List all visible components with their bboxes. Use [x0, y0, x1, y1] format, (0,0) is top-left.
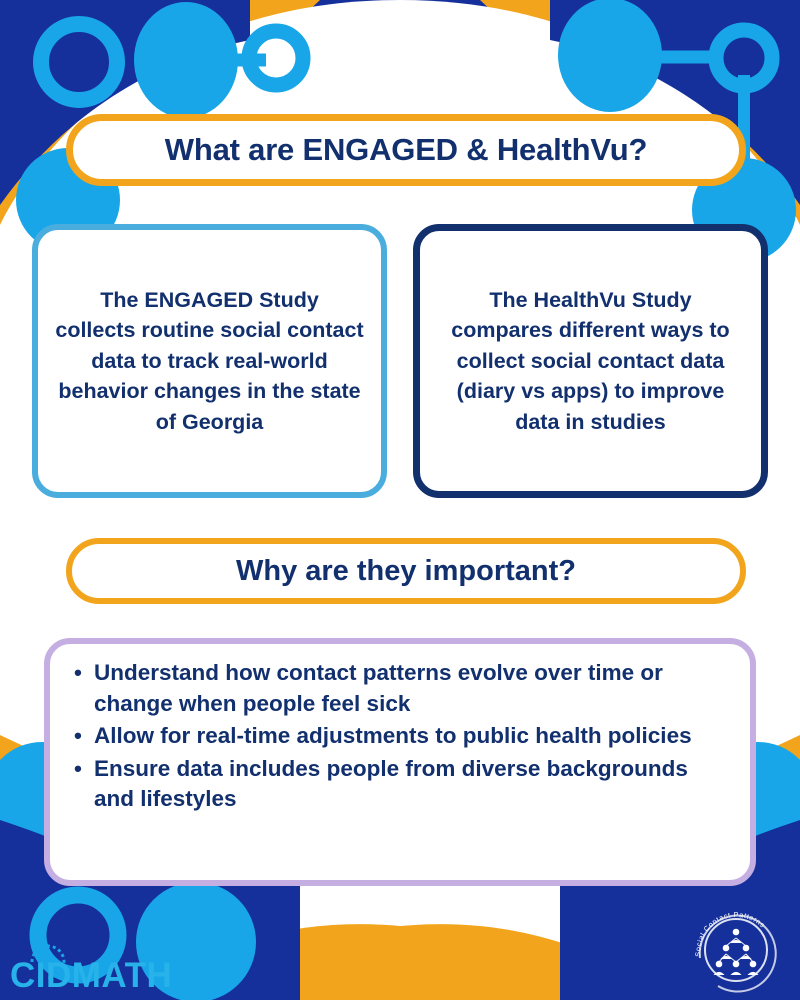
study-cards-row: The ENGAGED Studycollects routine social…	[32, 224, 768, 498]
list-item-text: Understand how contact patterns evolve o…	[94, 660, 663, 716]
scp-people-icons	[714, 929, 759, 975]
importance-bullets-list: • Understand how contact patterns evolve…	[68, 658, 728, 815]
social-contact-patterns-mark: Social Contact Patterns	[688, 902, 784, 998]
list-item: • Allow for real-time adjustments to pub…	[68, 721, 728, 752]
bullet-marker-icon: •	[74, 658, 82, 689]
list-item: • Ensure data includes people from diver…	[68, 754, 728, 815]
list-item-text: Ensure data includes people from diverse…	[94, 756, 688, 812]
study-card-healthvu-body: The HealthVu Studycompares different way…	[436, 285, 745, 438]
bullet-marker-icon: •	[74, 721, 82, 752]
study-card-healthvu: The HealthVu Studycompares different way…	[413, 224, 768, 498]
bullet-marker-icon: •	[74, 754, 82, 785]
study-card-engaged-lead: The ENGAGED Study	[54, 285, 365, 316]
list-item-text: Allow for real-time adjustments to publi…	[94, 723, 692, 748]
section-heading: Why are they important?	[66, 538, 746, 604]
importance-bullets-card: • Understand how contact patterns evolve…	[44, 638, 756, 886]
page-title: What are ENGAGED & HealthVu?	[66, 114, 746, 186]
study-card-healthvu-rest: compares different ways to collect socia…	[451, 318, 729, 434]
study-card-engaged: The ENGAGED Studycollects routine social…	[32, 224, 387, 498]
person-icon	[731, 961, 742, 975]
cidmath-logo: CIDMATH	[6, 900, 196, 1000]
infographic-poster: What are ENGAGED & HealthVu? The ENGAGED…	[0, 0, 800, 1000]
page-title-text: What are ENGAGED & HealthVu?	[165, 132, 647, 168]
study-card-healthvu-lead: The HealthVu Study	[436, 285, 745, 316]
study-card-engaged-body: The ENGAGED Studycollects routine social…	[54, 285, 365, 438]
social-contact-patterns-logo: Social Contact Patterns	[688, 902, 784, 998]
list-item: • Understand how contact patterns evolve…	[68, 658, 728, 719]
cidmath-wordmark: CIDMATH	[10, 958, 172, 993]
section-heading-text: Why are they important?	[236, 555, 576, 588]
scp-inner-circle-icon	[705, 919, 767, 981]
study-card-engaged-rest: collects routine social contact data to …	[55, 318, 363, 434]
